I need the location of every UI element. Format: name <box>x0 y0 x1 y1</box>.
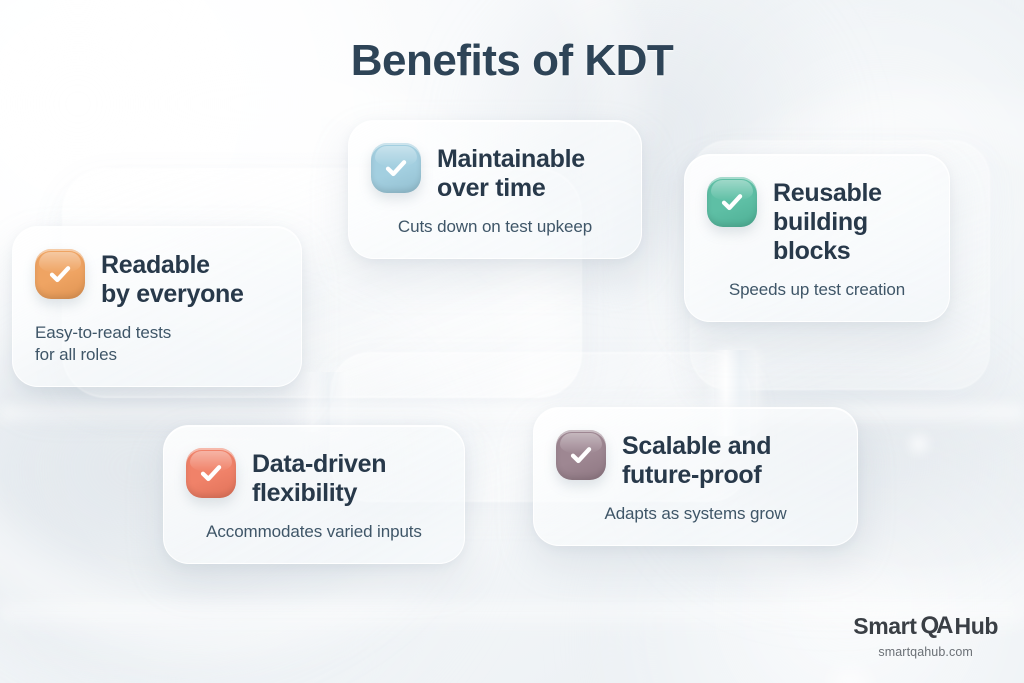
check-badge-icon <box>556 430 606 480</box>
card-subtitle: Accommodates varied inputs <box>186 521 442 543</box>
brand-name-part-smart: Smart <box>853 613 916 640</box>
page-title: Benefits of KDT <box>0 36 1024 86</box>
card-title-line: Data-driven <box>252 450 386 479</box>
card-subtitle: Cuts down on test upkeep <box>371 216 619 238</box>
card-title-line: by everyone <box>101 280 244 309</box>
card-title: Data-driven flexibility <box>252 448 386 508</box>
card-header: Scalable and future-proof <box>556 430 835 490</box>
background-highlight <box>820 660 880 683</box>
brand-name: Smart QA Hub <box>853 612 998 640</box>
card-title-line: blocks <box>773 237 882 266</box>
card-header: Reusable building blocks <box>707 177 927 266</box>
benefit-card-data-driven[interactable]: Data-driven flexibility Accommodates var… <box>163 425 465 564</box>
check-badge-icon <box>707 177 757 227</box>
check-badge-icon <box>371 143 421 193</box>
card-title: Maintainable over time <box>437 143 585 203</box>
infographic-canvas: Benefits of KDT Readable by everyone Eas… <box>0 0 1024 683</box>
brand-logo: Smart QA Hub smartqahub.com <box>853 612 998 659</box>
card-title-line: future-proof <box>622 461 771 490</box>
brand-qa-mark: QA <box>920 612 950 640</box>
card-title-line: flexibility <box>252 479 386 508</box>
card-subtitle-line: Easy-to-read tests <box>35 322 279 344</box>
card-subtitle: Easy-to-read tests for all roles <box>35 322 279 366</box>
check-badge-icon <box>35 249 85 299</box>
card-title-line: Reusable <box>773 179 882 208</box>
brand-name-part-hub: Hub <box>954 613 998 640</box>
card-subtitle: Speeds up test creation <box>707 279 927 301</box>
card-subtitle-line: for all roles <box>35 344 279 366</box>
benefit-card-reusable[interactable]: Reusable building blocks Speeds up test … <box>684 154 950 322</box>
background-band <box>0 400 1024 426</box>
connector-stem <box>300 372 346 432</box>
benefit-card-readable[interactable]: Readable by everyone Easy-to-read tests … <box>12 226 302 387</box>
background-highlight <box>905 430 933 458</box>
card-title: Readable by everyone <box>101 249 244 309</box>
card-title: Scalable and future-proof <box>622 430 771 490</box>
card-title-line: Scalable and <box>622 432 771 461</box>
check-badge-icon <box>186 448 236 498</box>
card-title-line: Readable <box>101 251 244 280</box>
card-title: Reusable building blocks <box>773 177 882 266</box>
card-title-line: Maintainable <box>437 145 585 174</box>
benefit-card-scalable[interactable]: Scalable and future-proof Adapts as syst… <box>533 407 858 546</box>
card-title-line: over time <box>437 174 585 203</box>
card-header: Data-driven flexibility <box>186 448 442 508</box>
brand-url: smartqahub.com <box>853 645 998 659</box>
card-subtitle: Adapts as systems grow <box>556 503 835 525</box>
benefit-card-maintainable[interactable]: Maintainable over time Cuts down on test… <box>348 120 642 259</box>
card-title-line: building <box>773 208 882 237</box>
card-header: Readable by everyone <box>35 249 279 309</box>
card-header: Maintainable over time <box>371 143 619 203</box>
